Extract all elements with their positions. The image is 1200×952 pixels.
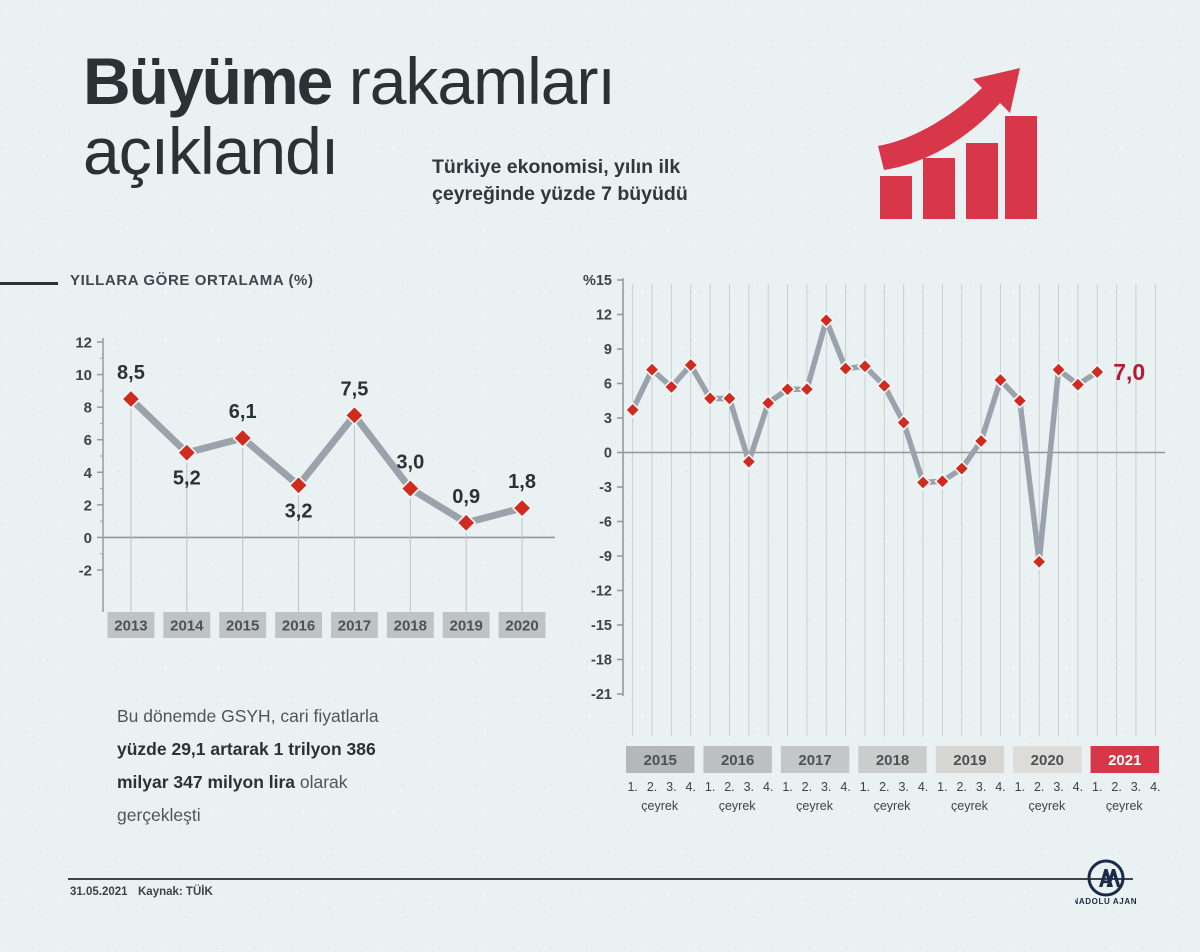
data-point-marker <box>742 455 756 469</box>
summary-bold-2: milyar 347 milyon lira <box>117 772 295 792</box>
quarter-tick-label: 1. <box>1015 780 1025 794</box>
quarter-tick-label: 3. <box>1053 780 1063 794</box>
quarter-tick-label: 3. <box>821 780 831 794</box>
data-point-label: 1,8 <box>508 471 536 493</box>
data-point-label: 3,0 <box>396 452 424 474</box>
quarter-tick-label: 2. <box>802 780 812 794</box>
year-box-label: 2020 <box>1031 752 1064 769</box>
anadolu-ajansi-logo: ANADOLU AJANSI <box>1075 858 1137 908</box>
quarter-tick-label: 2. <box>957 780 967 794</box>
growth-bars-arrow-icon <box>872 58 1042 223</box>
quarter-tick-label: 1. <box>627 780 637 794</box>
year-box-label: 2018 <box>394 618 427 635</box>
infographic-page: Büyüme rakamları açıklandı Türkiye ekono… <box>0 0 1200 952</box>
section-label: YILLARA GÖRE ORTALAMA (%) <box>70 272 314 289</box>
data-point-marker <box>1032 555 1046 569</box>
quarter-unit-label: çeyrek <box>874 799 912 812</box>
data-point-label: 3,2 <box>285 500 313 522</box>
y-axis-tick-label: 6 <box>604 377 612 393</box>
summary-text: Bu dönemde GSYH, cari fiyatlarla yüzde 2… <box>117 700 477 832</box>
year-box-label: 2017 <box>798 752 831 769</box>
quarter-unit-label: çeyrek <box>951 799 989 812</box>
y-axis-tick-label: 12 <box>75 335 92 352</box>
year-box-label: 2019 <box>953 752 986 769</box>
data-point-annotation: 7,0 <box>1113 359 1145 385</box>
year-box-label: 2014 <box>170 618 204 635</box>
data-point-label: 6,1 <box>229 401 257 423</box>
y-axis-tick-label: 12 <box>596 308 612 324</box>
data-point-label: 7,5 <box>341 378 369 400</box>
y-axis-tick-label: -12 <box>591 584 612 600</box>
y-axis-tick-label: 3 <box>604 411 612 427</box>
footer-rule <box>68 878 1133 880</box>
chart-quarterly-growth: %15129630-3-6-9-12-15-18-217,02015201620… <box>565 262 1185 812</box>
quarter-tick-label: 4. <box>763 780 773 794</box>
chart-yearly-average: 121086420-28,55,26,13,27,53,00,91,820132… <box>55 320 555 650</box>
quarter-tick-label: 4. <box>840 780 850 794</box>
y-axis-tick-label: -21 <box>591 687 612 703</box>
y-axis-tick-label: %15 <box>583 273 612 289</box>
page-title-bold: Büyüme <box>83 44 331 118</box>
data-point-marker <box>800 382 814 396</box>
y-axis-tick-label: -3 <box>599 480 612 496</box>
year-box-label: 2013 <box>114 618 147 635</box>
chart-quarterly-growth-svg: %15129630-3-6-9-12-15-18-217,02015201620… <box>565 262 1185 812</box>
quarter-unit-label: çeyrek <box>796 799 834 812</box>
section-rule <box>0 282 58 285</box>
footer-date: 31.05.2021 <box>70 886 128 898</box>
y-axis-tick-label: -6 <box>599 515 612 531</box>
quarter-tick-label: 4. <box>1073 780 1083 794</box>
year-box-label: 2016 <box>282 618 315 635</box>
quarter-tick-label: 1. <box>860 780 870 794</box>
y-axis-tick-label: 0 <box>604 446 612 462</box>
quarter-tick-label: 1. <box>782 780 792 794</box>
year-box-label: 2021 <box>1108 752 1141 769</box>
page-title-rest: rakamları <box>331 44 614 118</box>
data-point-label: 8,5 <box>117 362 145 384</box>
y-axis-tick-label: -2 <box>79 563 92 580</box>
summary-line-1: Bu dönemde GSYH, cari fiyatlarla <box>117 706 379 726</box>
year-box-label: 2015 <box>644 752 677 769</box>
quarter-tick-label: 3. <box>898 780 908 794</box>
subtitle: Türkiye ekonomisi, yılın ilk çeyreğinde … <box>432 154 732 208</box>
quarter-tick-label: 3. <box>976 780 986 794</box>
quarter-tick-label: 2. <box>647 780 657 794</box>
y-axis-tick-label: 8 <box>84 400 92 417</box>
summary-line-4: gerçekleşti <box>117 805 201 825</box>
year-box-label: 2015 <box>226 618 259 635</box>
year-box-label: 2017 <box>338 618 371 635</box>
year-box-label: 2019 <box>450 618 483 635</box>
quarter-tick-label: 4. <box>918 780 928 794</box>
quarter-tick-label: 3. <box>666 780 676 794</box>
quarter-tick-label: 2. <box>724 780 734 794</box>
quarter-unit-label: çeyrek <box>719 799 757 812</box>
y-axis-tick-label: 2 <box>84 497 92 514</box>
footer-source: Kaynak: TÜİK <box>138 886 213 898</box>
summary-tail: olarak <box>295 772 348 792</box>
year-box-label: 2020 <box>505 618 538 635</box>
y-axis-tick-label: -9 <box>599 549 612 565</box>
y-axis-tick-label: -15 <box>591 618 612 634</box>
quarter-tick-label: 1. <box>937 780 947 794</box>
header: Büyüme rakamları açıklandı Türkiye ekono… <box>0 0 1200 250</box>
quarter-tick-label: 2. <box>1111 780 1121 794</box>
y-axis-tick-label: -18 <box>591 653 612 669</box>
quarter-tick-label: 2. <box>1034 780 1044 794</box>
quarter-tick-label: 4. <box>995 780 1005 794</box>
data-point-marker <box>722 391 736 405</box>
y-axis-tick-label: 6 <box>84 432 92 449</box>
y-axis-tick-label: 0 <box>84 530 92 547</box>
chart-yearly-average-svg: 121086420-28,55,26,13,27,53,00,91,820132… <box>55 320 555 650</box>
quarter-tick-label: 2. <box>879 780 889 794</box>
y-axis-tick-label: 10 <box>75 367 92 384</box>
data-point-label: 5,2 <box>173 468 201 490</box>
quarter-tick-label: 4. <box>1150 780 1160 794</box>
quarter-unit-label: çeyrek <box>1028 799 1066 812</box>
quarter-tick-label: 4. <box>686 780 696 794</box>
y-axis-tick-label: 4 <box>84 465 93 482</box>
data-point-marker <box>513 499 531 517</box>
quarter-tick-label: 1. <box>705 780 715 794</box>
quarter-tick-label: 3. <box>1131 780 1141 794</box>
data-point-label: 0,9 <box>452 486 480 508</box>
quarter-unit-label: çeyrek <box>641 799 679 812</box>
quarter-tick-label: 1. <box>1092 780 1102 794</box>
data-point-marker <box>916 475 930 489</box>
year-box-label: 2018 <box>876 752 909 769</box>
quarter-tick-label: 3. <box>744 780 754 794</box>
year-box-label: 2016 <box>721 752 754 769</box>
y-axis-tick-label: 9 <box>604 342 612 358</box>
logo-wordmark: ANADOLU AJANSI <box>1075 897 1137 906</box>
quarter-unit-label: çeyrek <box>1106 799 1144 812</box>
summary-bold-1: yüzde 29,1 artarak 1 trilyon 386 <box>117 739 376 759</box>
